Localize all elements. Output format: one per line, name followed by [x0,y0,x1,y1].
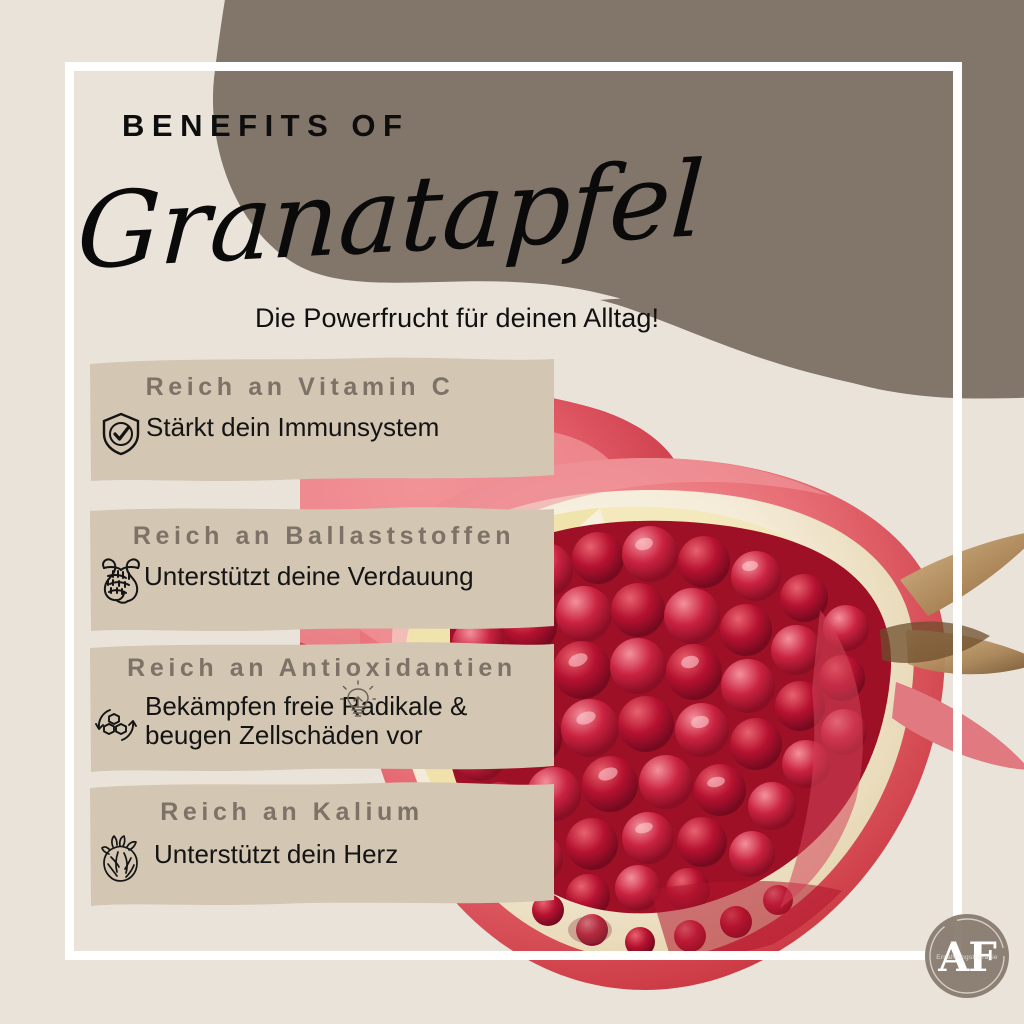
benefit-title: Reich an Antioxidantien [88,654,556,683]
benefit-card[interactable]: Reich an Ballaststoffen [88,504,556,633]
benefit-title: Reich an Kalium [58,798,526,827]
benefit-description: Unterstützt dein Herz [154,840,398,869]
benefit-description: Bekämpfen freie Radikale & beugen Zellsc… [145,692,467,750]
molecule-cycle-icon [93,702,139,748]
benefit-card[interactable]: Reich an Vitamin C Stärkt dein Immunsyst… [88,355,556,483]
brand-logo[interactable]: AF Ernährungstherapie [924,913,1010,999]
anatomical-heart-icon [98,832,144,884]
benefit-card[interactable]: Reich an Kalium [88,780,556,908]
lightbulb-icon [340,680,376,725]
shield-check-icon [100,411,142,457]
benefit-card[interactable]: Reich an Antioxidantien [88,640,556,774]
benefits-list: Reich an Vitamin C Stärkt dein Immunsyst… [0,0,1024,1024]
benefit-title: Reich an Ballaststoffen [90,522,558,551]
poster-canvas: BENEFITS OF Granatapfel Die Powerfrucht … [0,0,1024,1024]
logo-tagline: Ernährungstherapie [936,954,998,961]
benefit-title: Reich an Vitamin C [66,373,534,402]
benefit-description: Stärkt dein Immunsystem [146,413,439,442]
intestine-icon [96,556,146,608]
benefit-description: Unterstützt deine Verdauung [144,562,474,591]
